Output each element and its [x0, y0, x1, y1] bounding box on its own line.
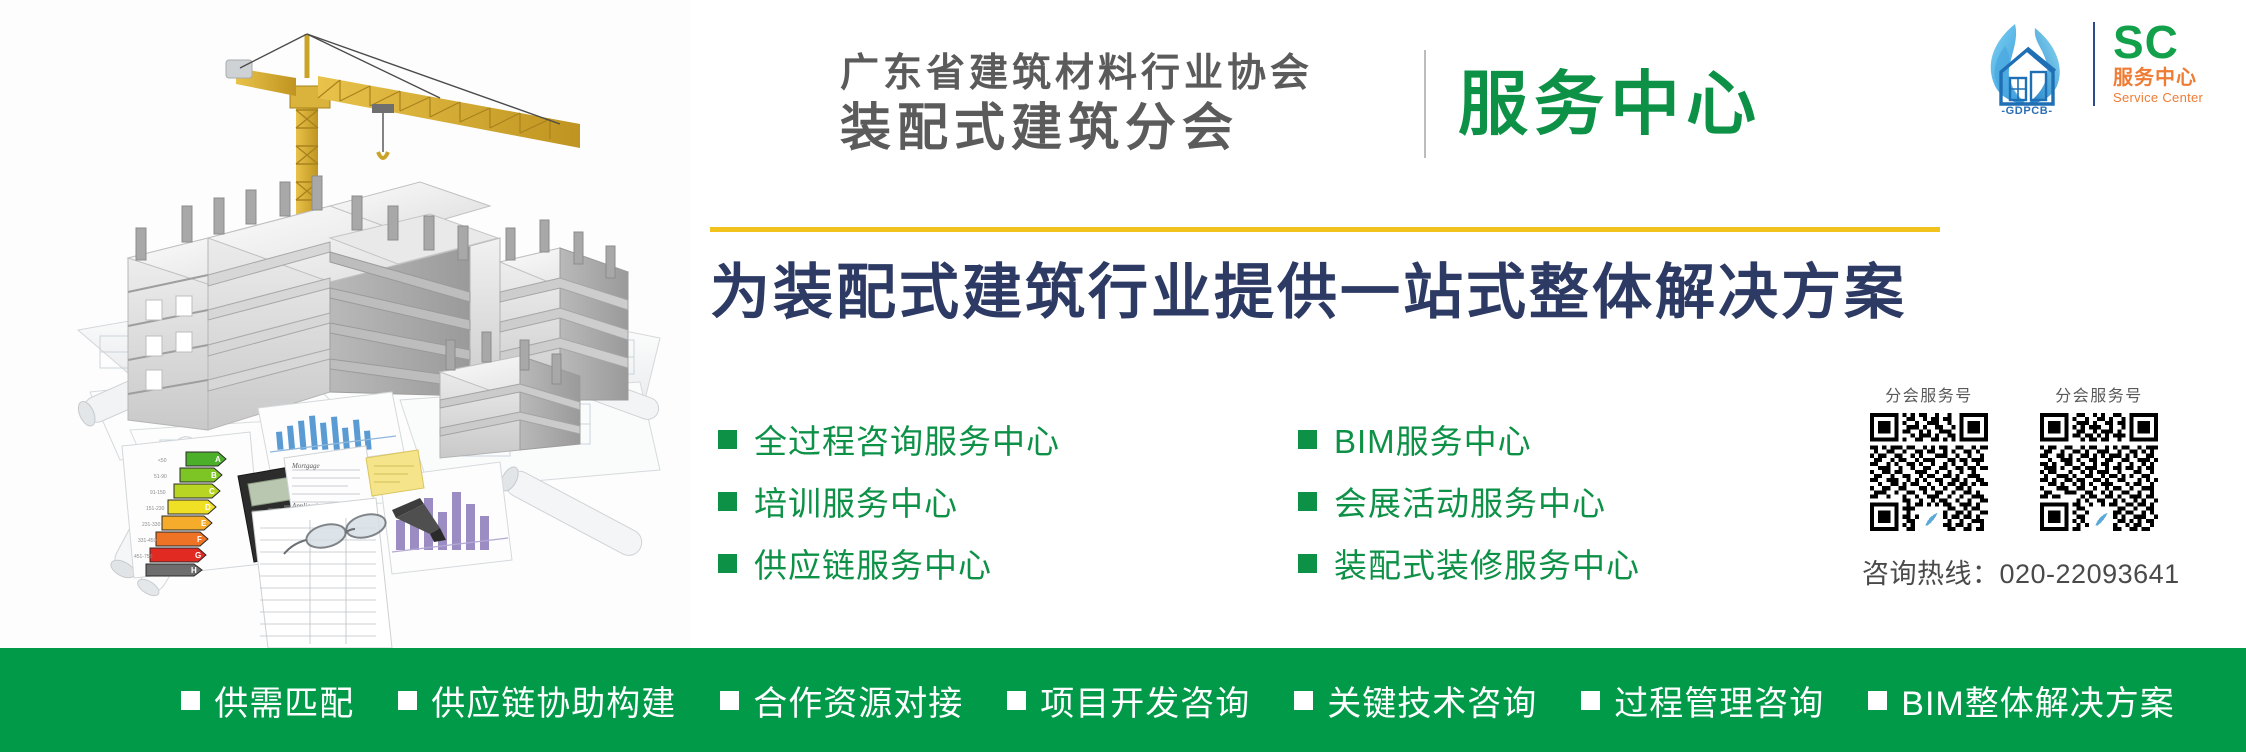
qr-code-section: 分会服务号 — [1855, 382, 2225, 531]
svg-text:E: E — [201, 519, 207, 528]
header-vertical-divider — [1424, 50, 1426, 158]
square-bullet-icon — [1298, 430, 1317, 449]
svg-text:-GDPCB-: -GDPCB- — [2001, 105, 2052, 116]
service-label: 供应链服务中心 — [754, 539, 992, 587]
square-bullet-icon — [1294, 691, 1313, 710]
square-bullet-icon — [718, 492, 737, 511]
square-bullet-icon — [718, 554, 737, 573]
construction-illustration: AB CD EF GH <5051-90 91-150151-230 231-3… — [0, 0, 690, 648]
brand-logo[interactable]: -GDPCB- SC 服务中心 Service Center — [1975, 12, 2235, 116]
hotline-text: 咨询热线：020-22093641 — [1862, 552, 2180, 591]
service-center-lists: 全过程咨询服务中心 培训服务中心 供应链服务中心 BIM服务中心 会展活动服务中… — [718, 408, 1818, 594]
service-label: 全过程咨询服务中心 — [754, 415, 1060, 463]
qr-code-image — [1870, 413, 1988, 531]
bottom-item-label: 关键技术咨询 — [1327, 676, 1537, 725]
svg-text:151-230: 151-230 — [146, 506, 165, 512]
list-item[interactable]: 装配式装修服务中心 — [1298, 532, 1818, 594]
svg-text:A: A — [215, 455, 221, 464]
gold-divider-rule — [710, 227, 1940, 232]
list-item[interactable]: 供应链服务中心 — [718, 532, 1298, 594]
list-item[interactable]: 合作资源对接 — [720, 676, 963, 725]
org-name-line-1: 广东省建筑材料行业协会 — [840, 51, 1400, 97]
svg-text:231-330: 231-330 — [142, 522, 161, 528]
service-list-right: BIM服务中心 会展活动服务中心 装配式装修服务中心 — [1298, 408, 1818, 594]
list-item[interactable]: 过程管理咨询 — [1581, 676, 1824, 725]
square-bullet-icon — [1007, 691, 1026, 710]
svg-text:C: C — [209, 487, 215, 496]
service-label: BIM服务中心 — [1334, 415, 1532, 463]
svg-text:B: B — [211, 471, 217, 480]
square-bullet-icon — [181, 691, 200, 710]
org-name-line-2: 装配式建筑分会 — [840, 99, 1400, 157]
logo-wordmark: SC 服务中心 Service Center — [2113, 18, 2237, 106]
svg-text:H: H — [191, 566, 197, 575]
svg-text:91-150: 91-150 — [150, 490, 166, 496]
promotional-banner: AB CD EF GH <5051-90 91-150151-230 231-3… — [0, 0, 2246, 752]
bottom-item-label: BIM整体解决方案 — [1901, 676, 2174, 725]
bottom-item-label: 供需匹配 — [214, 676, 354, 725]
logo-chinese-text: 服务中心 — [2113, 66, 2237, 90]
bottom-services-bar: 供需匹配 供应链协助构建 合作资源对接 项目开发咨询 关键技术咨询 过程管理咨询… — [0, 648, 2246, 752]
service-center-heading: 服务中心 — [1458, 52, 1762, 156]
square-bullet-icon — [1581, 691, 1600, 710]
svg-text:G: G — [195, 551, 201, 560]
svg-text:Mortgage: Mortgage — [291, 462, 320, 470]
list-item[interactable]: 供需匹配 — [181, 676, 354, 725]
bottom-item-label: 供应链协助构建 — [431, 676, 676, 725]
bottom-item-label: 过程管理咨询 — [1614, 676, 1824, 725]
bottom-item-label: 项目开发咨询 — [1040, 676, 1250, 725]
list-item[interactable]: 培训服务中心 — [718, 470, 1298, 532]
square-bullet-icon — [720, 691, 739, 710]
sticky-note — [366, 450, 424, 496]
qr-caption: 分会服务号 — [2055, 382, 2143, 406]
qr-code-2[interactable]: 分会服务号 — [2025, 382, 2173, 531]
qr-code-1[interactable]: 分会服务号 — [1855, 382, 2003, 531]
square-bullet-icon — [398, 691, 417, 710]
energy-rating-chart: AB CD EF GH <5051-90 91-150151-230 231-3… — [122, 432, 262, 578]
square-bullet-icon — [718, 430, 737, 449]
qr-caption: 分会服务号 — [1885, 382, 1973, 406]
organization-name-block: 广东省建筑材料行业协会 装配式建筑分会 — [840, 48, 1400, 160]
service-list-left: 全过程咨询服务中心 培训服务中心 供应链服务中心 — [718, 408, 1298, 594]
svg-text:331-450: 331-450 — [138, 538, 157, 544]
svg-text:451-750: 451-750 — [134, 554, 153, 560]
list-item[interactable]: 会展活动服务中心 — [1298, 470, 1818, 532]
svg-text:D: D — [205, 503, 211, 512]
logo-sc-text: SC — [2113, 18, 2237, 66]
square-bullet-icon — [1298, 554, 1317, 573]
list-item[interactable]: BIM整体解决方案 — [1868, 676, 2174, 725]
service-label: 装配式装修服务中心 — [1334, 539, 1640, 587]
list-item[interactable]: BIM服务中心 — [1298, 408, 1818, 470]
list-item[interactable]: 关键技术咨询 — [1294, 676, 1537, 725]
service-label: 培训服务中心 — [754, 477, 958, 525]
logo-english-text: Service Center — [2113, 90, 2237, 106]
square-bullet-icon — [1868, 691, 1887, 710]
qr-code-image — [2040, 413, 2158, 531]
bottom-item-label: 合作资源对接 — [753, 676, 963, 725]
svg-text:51-90: 51-90 — [154, 474, 167, 480]
svg-text:<50: <50 — [158, 458, 167, 464]
list-item[interactable]: 供应链协助构建 — [398, 676, 676, 725]
gdpcb-house-flame-icon: -GDPCB- — [1975, 12, 2079, 116]
svg-text:F: F — [197, 535, 202, 544]
list-item[interactable]: 全过程咨询服务中心 — [718, 408, 1298, 470]
list-item[interactable]: 项目开发咨询 — [1007, 676, 1250, 725]
square-bullet-icon — [1298, 492, 1317, 511]
service-label: 会展活动服务中心 — [1334, 477, 1606, 525]
banner-tagline: 为装配式建筑行业提供一站式整体解决方案 — [710, 255, 1907, 331]
logo-divider — [2093, 22, 2095, 106]
